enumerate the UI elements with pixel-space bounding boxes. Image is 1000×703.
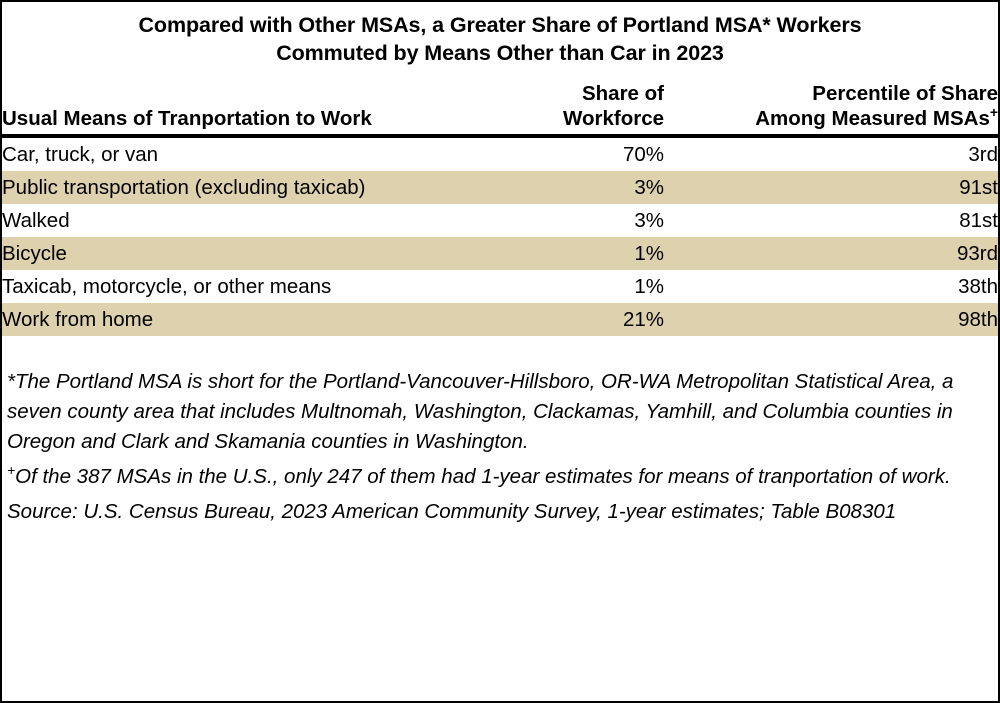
cell-means: Walked [2,204,524,237]
cell-percentile: 81st [664,204,998,237]
footnote-measured-msas-text: Of the 387 MSAs in the U.S., only 247 of… [15,465,951,488]
cell-means: Taxicab, motorcycle, or other means [2,270,524,303]
title-line-2: Commuted by Means Other than Car in 2023 [20,39,980,67]
title-line-1: Compared with Other MSAs, a Greater Shar… [20,11,980,39]
cell-share: 70% [524,136,664,171]
column-header-means: Usual Means of Tranportation to Work [2,81,524,136]
cell-means: Bicycle [2,237,524,270]
table-header: Usual Means of Tranportation to Work Sha… [2,81,998,136]
commute-means-table: Usual Means of Tranportation to Work Sha… [2,81,998,336]
cell-percentile: 38th [664,270,998,303]
table-header-row: Usual Means of Tranportation to Work Sha… [2,81,998,136]
cell-share: 21% [524,303,664,336]
column-header-means-label: Usual Means of Tranportation to Work [2,106,524,131]
column-header-percentile-line2: Among Measured MSAs+ [664,106,998,131]
table-body: Car, truck, or van70%3rdPublic transport… [2,136,998,336]
table-row: Bicycle1%93rd [2,237,998,270]
column-header-percentile-text: Among Measured MSAs [755,107,990,130]
column-header-percentile-line1: Percentile of Share [664,81,998,106]
column-header-share-line2: Workforce [524,106,664,131]
column-header-share: Share of Workforce [524,81,664,136]
cell-share: 1% [524,270,664,303]
column-header-share-line1: Share of [524,81,664,106]
cell-share: 3% [524,171,664,204]
table-row: Taxicab, motorcycle, or other means1%38t… [2,270,998,303]
footnotes: *The Portland MSA is short for the Portl… [2,367,998,527]
table-row: Walked3%81st [2,204,998,237]
cell-percentile: 98th [664,303,998,336]
cell-means: Work from home [2,303,524,336]
cell-means: Public transportation (excluding taxicab… [2,171,524,204]
footnote-marker-plus-icon: + [7,462,15,478]
table-row: Work from home21%98th [2,303,998,336]
table-row: Car, truck, or van70%3rd [2,136,998,171]
cell-percentile: 93rd [664,237,998,270]
column-header-percentile: Percentile of Share Among Measured MSAs+ [664,81,998,136]
footnote-source: Source: U.S. Census Bureau, 2023 America… [7,497,984,527]
cell-share: 3% [524,204,664,237]
cell-percentile: 3rd [664,136,998,171]
infographic-table-card: Compared with Other MSAs, a Greater Shar… [0,0,1000,703]
footnote-measured-msas: +Of the 387 MSAs in the U.S., only 247 o… [7,462,984,492]
cell-share: 1% [524,237,664,270]
page-title: Compared with Other MSAs, a Greater Shar… [2,2,998,67]
card-inner: Compared with Other MSAs, a Greater Shar… [2,2,998,701]
cell-percentile: 91st [664,171,998,204]
footnote-marker-plus-icon: + [990,104,998,120]
table-row: Public transportation (excluding taxicab… [2,171,998,204]
footnote-msa-definition: *The Portland MSA is short for the Portl… [7,367,984,457]
cell-means: Car, truck, or van [2,136,524,171]
